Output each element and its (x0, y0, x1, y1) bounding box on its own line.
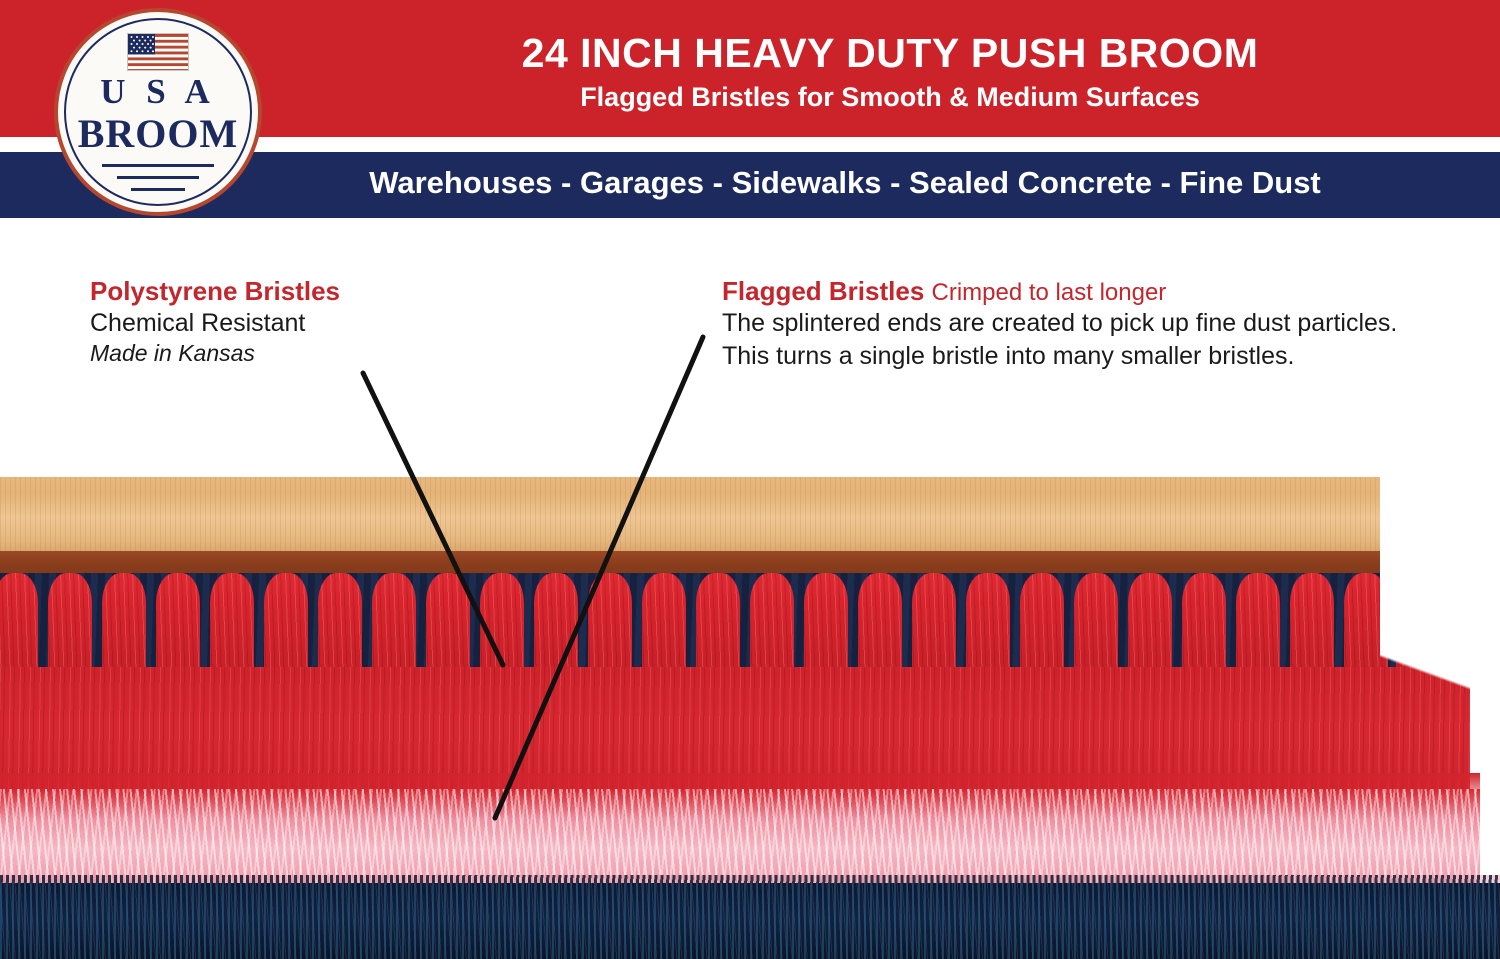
callout-left-heading: Polystyrene Bristles (90, 276, 340, 307)
badge-rule-group (58, 164, 258, 200)
wooden-block (0, 477, 1452, 553)
badge-rule-2 (117, 176, 199, 179)
callout-right-heading: Flagged Bristles Crimped to last longer (722, 276, 1442, 307)
page-title: 24 INCH HEAVY DUTY PUSH BROOM (300, 33, 1480, 74)
photo-corner-mask (1452, 477, 1500, 597)
brand-logo-badge: U S A BROOM (54, 8, 262, 216)
badge-rule-1 (102, 164, 214, 167)
product-photo-broom-head (0, 477, 1500, 959)
badge-line-broom: BROOM (58, 114, 258, 154)
navy-bottom-bristles (0, 883, 1500, 959)
callout-flagged-bristles: Flagged Bristles Crimped to last longer … (722, 276, 1442, 373)
infographic-canvas: 24 INCH HEAVY DUTY PUSH BROOM Flagged Br… (0, 0, 1500, 959)
usa-flag-icon (127, 33, 189, 71)
badge-rule-3 (131, 188, 185, 191)
callout-left-line2: Made in Kansas (90, 339, 340, 368)
callout-right-body: The splintered ends are created to pick … (722, 307, 1442, 373)
callout-polystyrene-bristles: Polystyrene Bristles Chemical Resistant … (90, 276, 340, 368)
badge-line-usa: U S A (58, 74, 258, 109)
page-subtitle: Flagged Bristles for Smooth & Medium Sur… (300, 84, 1480, 111)
callout-right-heading-main: Flagged Bristles (722, 276, 924, 306)
callout-right-heading-sub: Crimped to last longer (932, 279, 1167, 306)
use-cases-text: Warehouses - Garages - Sidewalks - Seale… (250, 167, 1440, 198)
callout-left-line1: Chemical Resistant (90, 307, 340, 339)
